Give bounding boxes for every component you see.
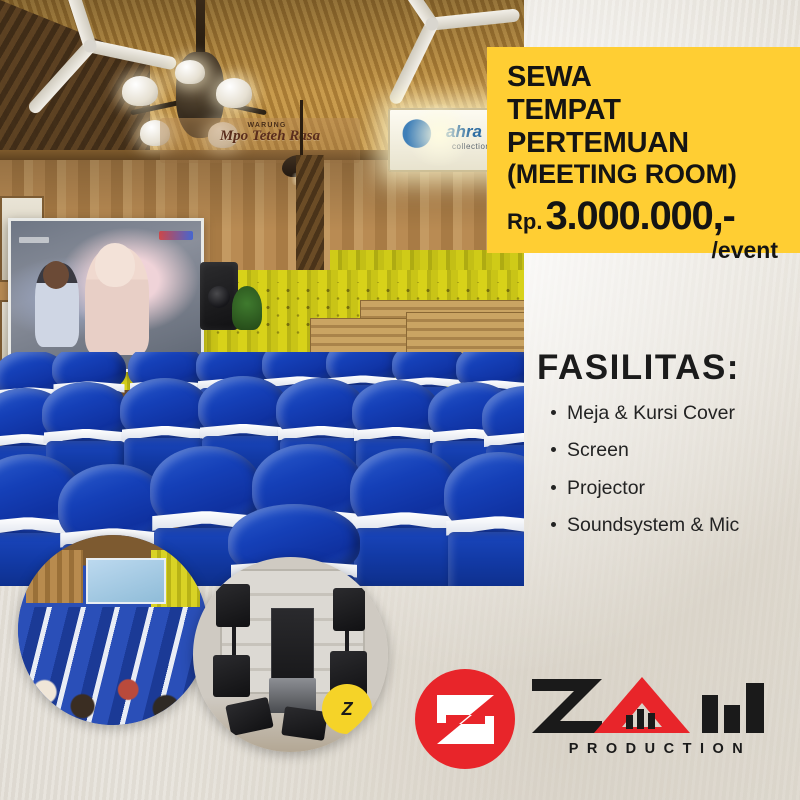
inset-audience-crowd	[18, 607, 208, 725]
price-row: Rp. 3.000.000,-	[507, 194, 782, 239]
inset-projector-screen	[86, 558, 166, 604]
venue-sign-name: Mpo Teteh Rasa	[180, 128, 360, 145]
z-monogram-icon	[415, 669, 515, 769]
broadcast-logo	[159, 231, 193, 240]
projected-person-head	[95, 243, 135, 287]
inset-photo-audience	[18, 535, 208, 725]
ceiling-fan-icon	[88, 44, 92, 48]
promo-poster: WARUNG Mpo Teteh Rasa ahra collection	[0, 0, 800, 800]
list-item: Projector	[551, 477, 795, 499]
projected-person-head	[43, 261, 69, 289]
chandelier-globe	[122, 76, 158, 106]
logo-mark-circle	[415, 669, 515, 769]
logo-wordmark	[530, 673, 788, 735]
speaker-icon	[216, 584, 249, 627]
zahl-wordmark-icon	[530, 673, 788, 735]
list-item: Screen	[551, 439, 795, 461]
projector-screen	[8, 218, 204, 372]
banner-line-meeting-room: (MEETING ROOM)	[507, 159, 782, 190]
currency-label: Rp.	[507, 209, 542, 235]
inset-wood-wall	[26, 550, 83, 603]
brand-logo: PRODUCTION	[415, 665, 790, 777]
chandelier-globe	[175, 60, 205, 84]
speaker-cone	[208, 286, 230, 308]
speaker-icon	[333, 588, 364, 631]
price-banner: SEWA TEMPAT PERTEMUAN (MEETING ROOM) Rp.…	[487, 47, 800, 253]
facilities-list: Meja & Kursi Cover Screen Projector Soun…	[537, 402, 795, 537]
chandelier-globe	[216, 78, 252, 108]
monitor-speaker-icon	[281, 706, 328, 741]
banner-line-tempat-pertemuan: TEMPAT PERTEMUAN	[507, 94, 782, 160]
banner-line-sewa: SEWA	[507, 61, 782, 94]
price-amount: 3.000.000,-	[545, 194, 734, 239]
main-venue-photo: WARUNG Mpo Teteh Rasa ahra collection	[0, 0, 524, 586]
price-per-unit: /event	[507, 237, 782, 264]
potted-plant	[232, 286, 262, 330]
inset-photo-soundsystem: Z	[193, 557, 388, 752]
logo-tagline: PRODUCTION	[532, 741, 788, 757]
pendant-lamp-rod	[300, 100, 303, 158]
facilities-section: FASILITAS: Meja & Kursi Cover Screen Pro…	[537, 348, 795, 552]
facilities-title: FASILITAS:	[537, 348, 795, 388]
light-glare	[404, 104, 474, 166]
list-item: Meja & Kursi Cover	[551, 402, 795, 424]
list-item: Soundsystem & Mic	[551, 514, 795, 536]
broadcast-tag	[19, 237, 49, 243]
ceiling-fan-icon	[430, 22, 434, 26]
subwoofer-icon	[213, 655, 250, 698]
